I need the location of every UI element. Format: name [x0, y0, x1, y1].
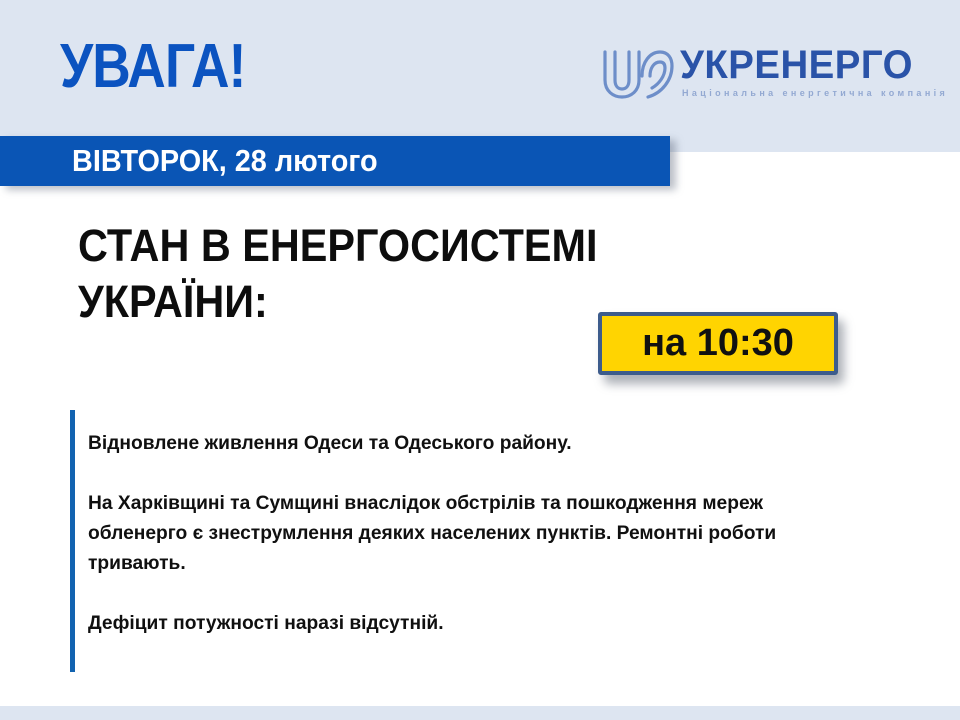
ukrenergo-monogram-icon [598, 46, 674, 102]
ukrenergo-logo: УКРЕНЕРГО Національна енергетична компан… [598, 44, 918, 106]
ukrenergo-subtitle: Національна енергетична компанія [682, 88, 948, 99]
body-text: Відновлене живлення Одеси та Одеського р… [88, 428, 846, 638]
body-paragraph: Відновлене живлення Одеси та Одеського р… [88, 428, 846, 458]
ukrenergo-wordmark: УКРЕНЕРГО [680, 44, 913, 86]
body-paragraph: На Харківщині та Сумщині внаслідок обстр… [88, 488, 846, 578]
time-badge-label: на 10:30 [598, 312, 838, 375]
date-banner-label: ВІВТОРОК, 28 лютого [72, 144, 378, 178]
footer-strip [0, 706, 960, 720]
body-paragraph: Дефіцит потужності наразі відсутній. [88, 608, 846, 638]
page-title-attention: УВАГА! [60, 36, 246, 98]
body-accent-bar [70, 410, 75, 672]
